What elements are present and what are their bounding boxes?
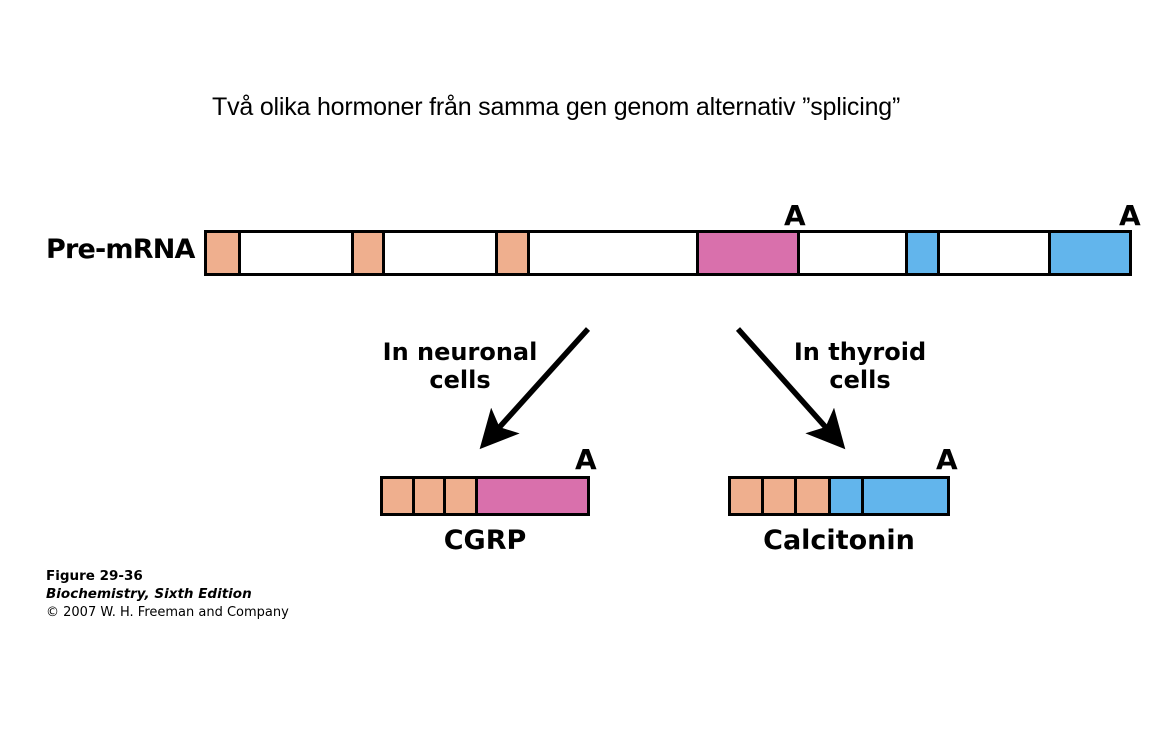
segment-exon-3: [446, 479, 478, 513]
credit-figure-number: Figure 29-36: [46, 568, 289, 586]
calcitonin-product-label: Calcitonin: [728, 525, 950, 556]
segment-intron-1: [241, 233, 354, 273]
pre-mrna-label: Pre-mRNA: [46, 234, 195, 265]
slide-title: Två olika hormoner från samma gen genom …: [212, 93, 1012, 122]
segment-exon-2: [354, 233, 386, 273]
segment-intron-4: [800, 233, 909, 273]
segment-exon-6-calcitonin-large: [864, 479, 947, 513]
credit-book-title: Biochemistry, Sixth Edition: [46, 586, 289, 604]
cgrp-mrna-bar: [380, 476, 590, 516]
calcitonin-poly-a-label: A: [936, 446, 958, 474]
calcitonin-mrna-bar: [728, 476, 950, 516]
segment-exon-4-cgrp: [478, 479, 587, 513]
segment-intron-3: [530, 233, 699, 273]
segment-intron-5: [940, 233, 1051, 273]
poly-a-site-2-label: A: [1119, 202, 1141, 230]
segment-exon-1: [207, 233, 241, 273]
segment-exon-1: [383, 479, 415, 513]
segment-exon-6-calcitonin-large: [1051, 233, 1129, 273]
figure-credit: Figure 29-36 Biochemistry, Sixth Edition…: [46, 568, 289, 621]
segment-intron-2: [385, 233, 498, 273]
poly-a-site-1-label: A: [784, 202, 806, 230]
arrow-neuronal-icon: [470, 325, 600, 455]
segment-exon-1: [731, 479, 764, 513]
segment-exon-3: [797, 479, 830, 513]
segment-exon-2: [415, 479, 447, 513]
figure-canvas: Två olika hormoner från samma gen genom …: [0, 0, 1168, 740]
arrow-thyroid-icon: [730, 325, 860, 455]
pre-mrna-bar: [204, 230, 1132, 276]
cgrp-poly-a-label: A: [575, 446, 597, 474]
credit-copyright: © 2007 W. H. Freeman and Company: [46, 604, 289, 621]
cgrp-product-label: CGRP: [380, 525, 590, 556]
segment-exon-2: [764, 479, 797, 513]
segment-exon-5-calcitonin-small: [908, 233, 940, 273]
segment-exon-3: [498, 233, 530, 273]
segment-exon-4-cgrp: [699, 233, 799, 273]
segment-exon-5-calcitonin-small: [831, 479, 864, 513]
